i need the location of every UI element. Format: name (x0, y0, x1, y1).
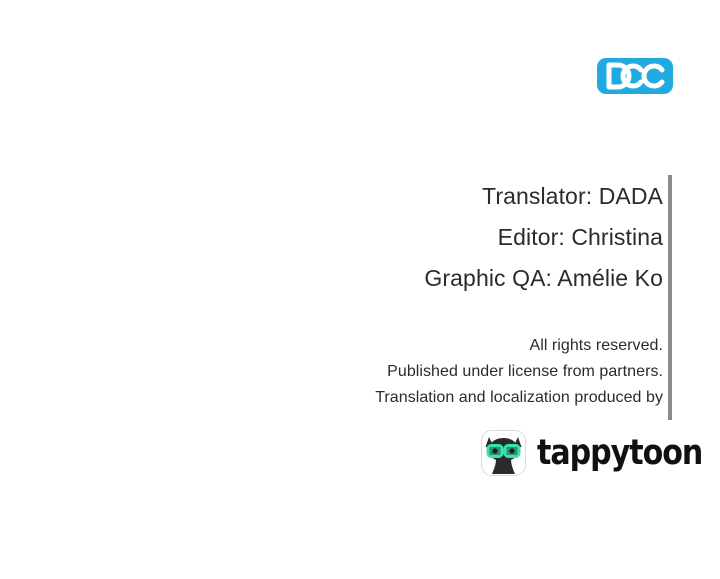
vertical-rule (668, 175, 672, 420)
dcc-logo-mark (597, 58, 673, 94)
tappytoon-cat-icon (481, 430, 526, 476)
rights-line-translation-produced-by: Translation and localization produced by (200, 385, 663, 411)
tappytoon-wordmark: tappytoon (537, 435, 702, 471)
credit-line-graphic-qa: Graphic QA: Amélie Ko (200, 258, 663, 299)
credits-page: Translator: DADA Editor: Christina Graph… (0, 0, 720, 579)
rights-line-all-rights: All rights reserved. (200, 333, 663, 359)
cat-mascot-glyph (482, 431, 525, 475)
rights-block: All rights reserved. Published under lic… (200, 333, 663, 411)
rights-line-published-under-license: Published under license from partners. (200, 359, 663, 385)
credits-block: Translator: DADA Editor: Christina Graph… (200, 176, 663, 299)
dcc-logo (597, 58, 673, 94)
credit-line-editor: Editor: Christina (200, 217, 663, 258)
credit-line-translator: Translator: DADA (200, 176, 663, 217)
tappytoon-logo: tappytoon (481, 429, 671, 477)
